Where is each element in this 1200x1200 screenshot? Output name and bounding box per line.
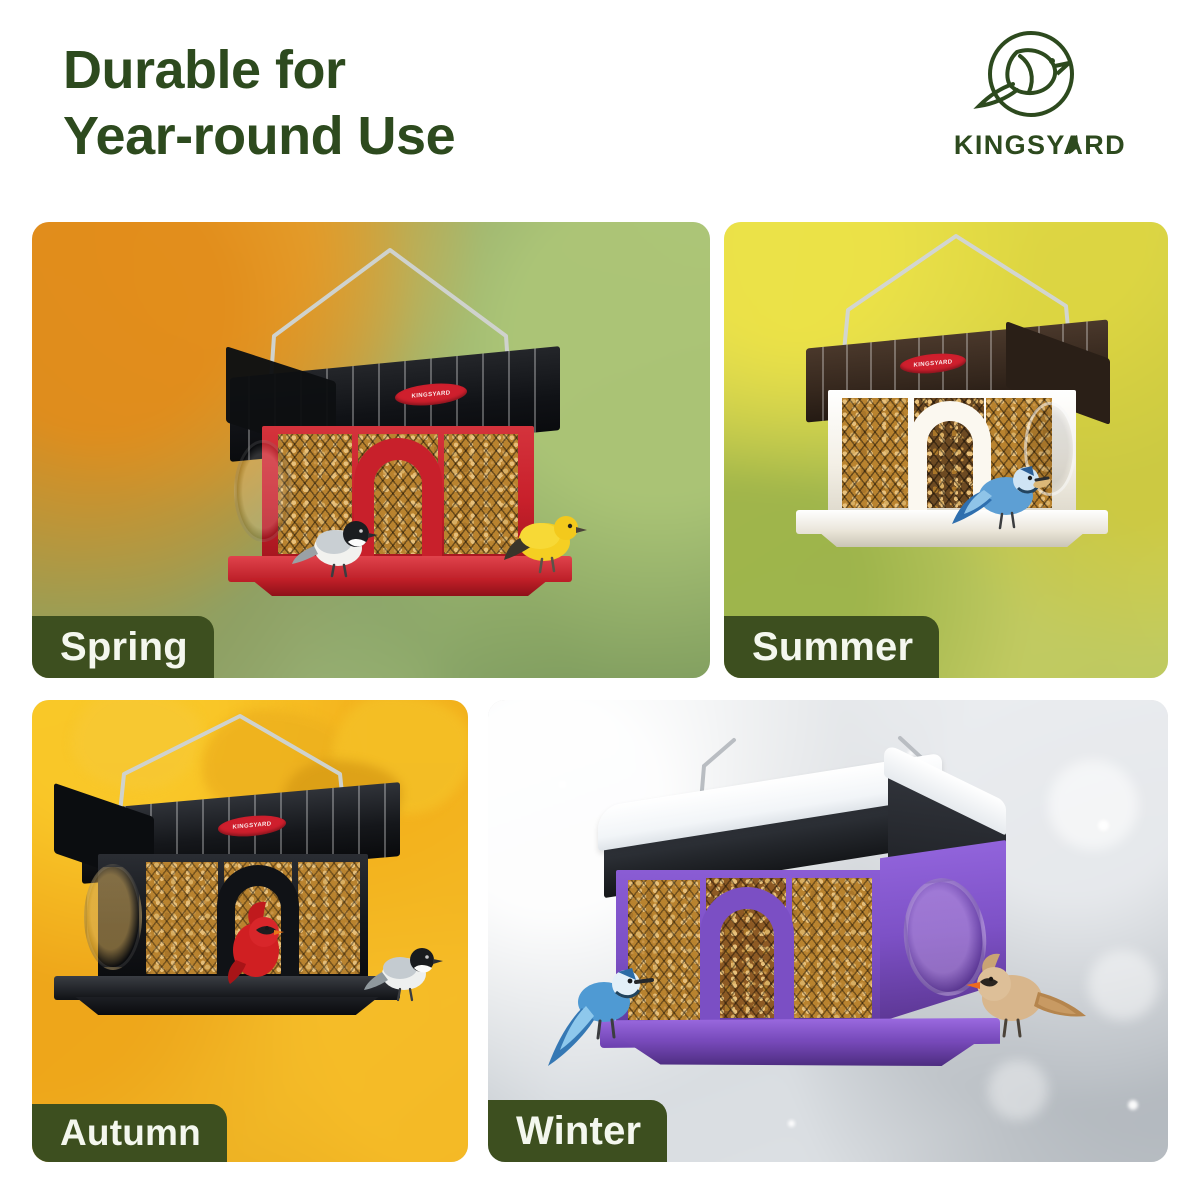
bird-chickadee [362, 936, 446, 1002]
seed-window-right [792, 878, 872, 1018]
bird-feeder-black: KINGSYARD [40, 712, 440, 1102]
season-label: Spring [60, 625, 188, 670]
panel-winter[interactable]: Winter [488, 700, 1168, 1162]
season-badge-spring: Spring [32, 616, 214, 678]
winter-photo [488, 700, 1168, 1162]
decal-text: KINGSYARD [900, 358, 966, 370]
feeder-tray-lip [616, 1040, 986, 1066]
bird-feeder-purple [548, 710, 1068, 1140]
season-badge-summer: Summer [724, 616, 939, 678]
autumn-photo: KINGSYARD [32, 700, 468, 1162]
bird-blue-jay [540, 950, 670, 1070]
seed-window-left [146, 862, 218, 974]
bird-feeder-red: KINGSYARD [182, 244, 602, 644]
feeder-tray-lip [240, 578, 560, 596]
seed-window-left [842, 398, 908, 508]
season-label: Autumn [60, 1112, 201, 1154]
brand-wordmark: KINGSYARD [925, 130, 1155, 161]
season-label: Winter [516, 1109, 641, 1154]
bird-chickadee [290, 508, 382, 578]
side-port-circle [84, 864, 142, 970]
side-port-circle [234, 440, 292, 542]
panel-autumn[interactable]: KINGSYARD [32, 700, 468, 1162]
bird-blue-jay [950, 450, 1060, 532]
spring-photo: KINGSYARD [32, 222, 710, 678]
bird-cardinal [220, 894, 296, 986]
bird-feeder-white: KINGSYARD [770, 232, 1150, 632]
seed-window-right [298, 862, 360, 974]
panel-summer[interactable]: KINGSYARD [724, 222, 1168, 678]
season-badge-winter: Winter [488, 1100, 667, 1162]
feeder-arch-opening [694, 870, 800, 1030]
leaf-accent-icon [1064, 134, 1080, 156]
summer-photo: KINGSYARD [724, 222, 1168, 678]
decal-text: KINGSYARD [395, 388, 467, 400]
bird-goldfinch [500, 502, 592, 576]
season-label: Summer [752, 625, 913, 670]
brand-lockup: KINGSYARD [925, 26, 1155, 176]
bird-in-circle-icon [973, 26, 1079, 128]
season-badge-autumn: Autumn [32, 1104, 227, 1162]
feeder-tray-lip [808, 530, 1096, 547]
feeder-tray-lip [66, 997, 388, 1015]
header: Durable for Year-round Use KINGSYARD [0, 0, 1200, 210]
marketing-page: Durable for Year-round Use KINGSYARD [0, 0, 1200, 1200]
snow-bokeh [1088, 950, 1158, 1020]
panel-spring[interactable]: KINGSYARD [32, 222, 710, 678]
bird-female-cardinal [950, 942, 1090, 1052]
decal-text: KINGSYARD [218, 820, 286, 832]
page-headline: Durable for Year-round Use [63, 38, 763, 170]
